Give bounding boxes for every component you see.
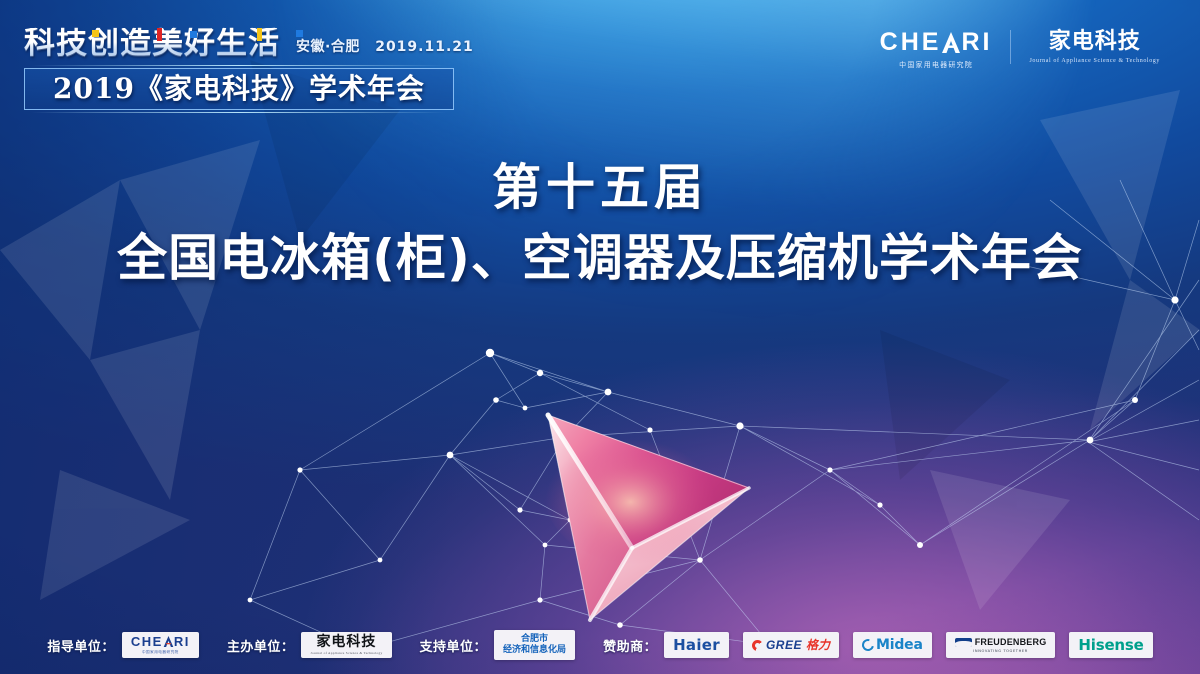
sponsor-midea-label: Midea	[876, 638, 923, 652]
footer-partners-bar: 指导单位： CHE RI 中国家用电器研究院 主办单位： 家电科技 Journa…	[0, 630, 1200, 660]
guide-logo-che: CHE	[131, 635, 163, 648]
sponsor-haier-label: Haier	[673, 638, 720, 653]
event-date: 2019.11.21	[375, 39, 474, 55]
cheari-word-ri: RI	[961, 30, 992, 55]
guide-logo-sub: 中国家用电器研究院	[142, 650, 179, 655]
journal-subtitle: Journal of Appliance Science & Technolog…	[1029, 58, 1160, 64]
slogan-row: 科技创造美好生活 安徽·合肥 2019.11.21	[24, 28, 474, 59]
support-logo-line1: 合肥市	[521, 634, 548, 645]
header-right-logos: CHE RI 中国家用电器研究院 家电科技 Journal of Applian…	[862, 30, 1178, 70]
support-logo-hefei[interactable]: 合肥市 经济和信息化局	[494, 630, 575, 660]
midea-ring-icon	[860, 637, 876, 653]
cheari-wordmark: CHE RI	[880, 30, 993, 55]
cheari-logo: CHE RI 中国家用电器研究院	[862, 30, 1011, 70]
label-support-unit: 支持单位：	[420, 636, 488, 655]
sponsor-gree-label: GREE	[766, 639, 802, 651]
freudenberg-top-row: FREUDENBERG	[955, 638, 1047, 647]
sponsor-logo-hisense[interactable]: Hisense	[1069, 632, 1152, 658]
header-meta: 安徽·合肥 2019.11.21	[296, 36, 474, 59]
sponsor-hisense-label: Hisense	[1078, 638, 1143, 653]
main-title-group: 第十五届 全国电冰箱(柜)、空调器及压缩机学术年会	[0, 160, 1200, 288]
header-left-group: 科技创造美好生活 安徽·合肥 2019.11.21 2019《家电科技》学术年会	[24, 28, 474, 110]
sponsor-logo-freudenberg[interactable]: FREUDENBERG INNOVATING TOGETHER	[946, 632, 1056, 658]
sponsor-freudenberg-group: FREUDENBERG INNOVATING TOGETHER	[955, 638, 1047, 653]
journal-logo: 家电科技 Journal of Appliance Science & Tech…	[1010, 30, 1178, 64]
host-logo-name: 家电科技	[316, 635, 376, 649]
sponsor-logo-gree[interactable]: GREE 格力	[743, 632, 839, 658]
event-slogan: 科技创造美好生活	[24, 28, 282, 59]
label-sponsors: 赞助商：	[603, 636, 657, 655]
host-logo-sub: Journal of Appliance Science & Technolog…	[310, 651, 382, 655]
freudenberg-mark-icon	[955, 638, 972, 647]
guide-logo-cheari[interactable]: CHE RI 中国家用电器研究院	[122, 632, 199, 658]
event-location: 安徽·合肥	[296, 39, 360, 55]
sponsor-logo-haier[interactable]: Haier	[664, 632, 729, 658]
annual-meeting-title: 2019《家电科技》学术年会	[53, 75, 425, 103]
label-guide-unit: 指导单位：	[47, 636, 115, 655]
banner-canvas: 科技创造美好生活 安徽·合肥 2019.11.21 2019《家电科技》学术年会	[0, 0, 1200, 674]
title-line-1: 第十五届	[0, 160, 1200, 216]
annual-meeting-banner: 2019《家电科技》学术年会	[24, 68, 454, 110]
cheari-word-che: CHE	[880, 30, 942, 55]
cheari-subtitle: 中国家用电器研究院	[899, 60, 973, 70]
cheari-a-icon	[941, 30, 961, 55]
guide-logo-a-icon	[163, 635, 174, 648]
sponsor-logo-midea[interactable]: Midea	[853, 632, 932, 658]
support-logo-line2: 经济和信息化局	[503, 645, 566, 656]
sponsor-gree-group: GREE 格力	[752, 639, 830, 651]
label-host-unit: 主办单位：	[227, 636, 295, 655]
sponsor-gree-label-cn: 格力	[806, 639, 830, 651]
gree-swirl-icon	[752, 640, 763, 651]
guide-logo-wordmark: CHE RI	[131, 635, 190, 648]
guide-logo-ri: RI	[174, 635, 190, 648]
sponsor-midea-group: Midea	[862, 638, 923, 652]
sponsor-freudenberg-label: FREUDENBERG	[975, 638, 1047, 647]
sponsor-freudenberg-tagline: INNOVATING TOGETHER	[973, 649, 1028, 653]
title-line-2: 全国电冰箱(柜)、空调器及压缩机学术年会	[0, 228, 1200, 288]
host-logo-journal[interactable]: 家电科技 Journal of Appliance Science & Tech…	[301, 632, 391, 658]
journal-wordmark: 家电科技	[1049, 30, 1141, 54]
